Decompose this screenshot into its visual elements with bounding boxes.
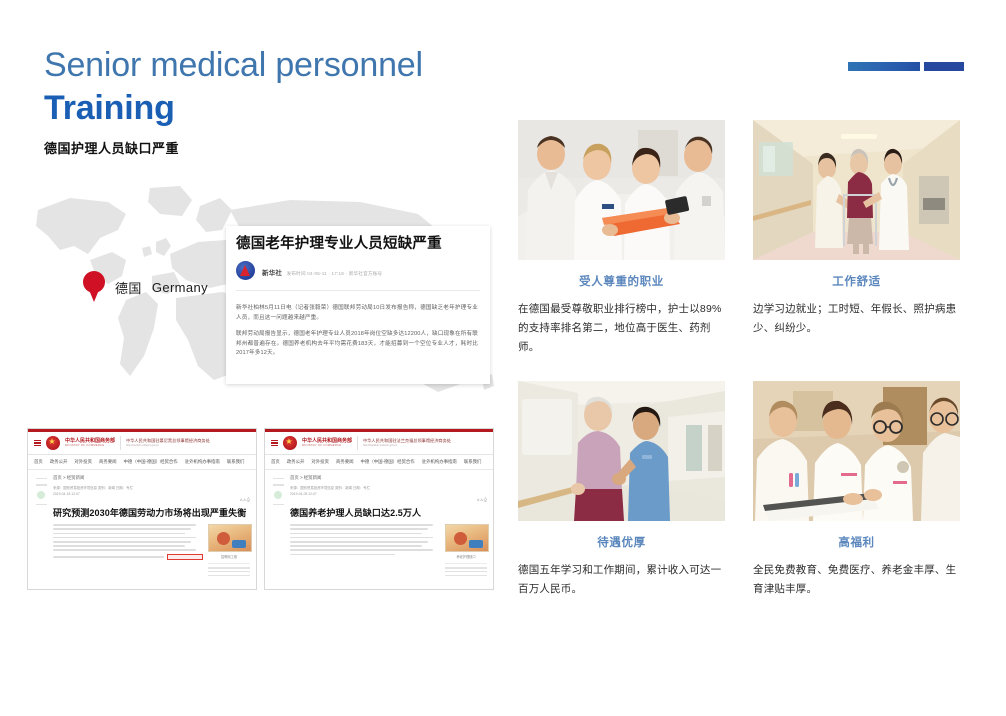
news-source-meta: 发布时间 04-05-11 · 17:18 · 新华社官方账号 <box>287 271 383 276</box>
ws2-site-header: 中华人民共和国商务部 MINISTRY OF COMMERCE 中华人民共和国驻… <box>265 432 493 455</box>
ws2-nav-item-5[interactable]: 驻外机构办事指南 <box>422 459 457 465</box>
feature-card-0: 受人尊重的职业 在德国最受尊敬职业排行榜中，护士以89%的支持率排名第二，地位高… <box>518 120 725 357</box>
ws1-nav-item-1[interactable]: 政务公开 <box>50 459 68 465</box>
ws2-article-thumbnail: 养老护理缺口 <box>445 524 487 578</box>
news-body: 新华社柏林5月11日电（记者张毅荣）德国联邦劳动局10日发布报告称，德国缺乏老年… <box>226 291 490 359</box>
ws1-thumbnail-image <box>208 524 252 552</box>
ws1-article-headline: 研究预测2030年德国劳动力市场将出现严重失衡 <box>53 508 250 519</box>
ws1-org-name-en: MINISTRY OF COMMERCE <box>65 444 115 448</box>
feature-body-1: 边学习边就业；工时短、年假长、照护病患少、纠纷少。 <box>753 300 960 338</box>
ws2-article-date: 2019-04-05 12:07 <box>290 492 487 496</box>
ws1-nav-item-4[interactable]: 中德（中国-德国）经贸合作 <box>124 459 178 465</box>
ws1-nav-item-2[interactable]: 对外投资 <box>74 459 92 465</box>
mofcom-screenshot-1[interactable]: 中华人民共和国商务部 MINISTRY OF COMMERCE 中华人民共和国驻… <box>27 428 257 590</box>
ws2-article-headline: 德国养老护理人员缺口达2.5万人 <box>290 508 487 519</box>
ws1-header-divider <box>120 436 121 450</box>
feature-body-3: 全民免费教育、免费医疗、养老金丰厚、生育津贴丰厚。 <box>753 561 960 599</box>
feature-card-2: 待遇优厚 德国五年学习和工作期间，累计收入可达一百万人民币。 <box>518 381 725 599</box>
news-paragraph-1: 新华社柏林5月11日电（记者张毅荣）德国联邦劳动局10日发布报告称，德国缺乏老年… <box>236 304 478 323</box>
news-byline: 新华社 发布时间 04-05-11 · 17:18 · 新华社官方账号 <box>226 253 490 282</box>
decor-bar-wide <box>848 62 920 71</box>
ws2-national-emblem-icon <box>283 436 297 450</box>
ws2-thumbnail-image <box>445 524 489 552</box>
page-header: Senior medical personnel Training 德国护理人员… <box>44 44 484 157</box>
ws2-side-rail <box>271 475 285 579</box>
news-headline: 德国老年护理专业人员短缺严重 <box>226 226 490 253</box>
ws1-side-rail <box>34 475 48 579</box>
xinhua-logo-icon <box>236 261 255 280</box>
news-source-name: 新华社 <box>262 270 282 277</box>
page-title-line1: Senior medical personnel <box>44 44 484 86</box>
ws2-article-meta: 来源：国别贸易投资环境信息 类别：新闻 日期：专栏 <box>290 485 487 490</box>
decorative-bars <box>848 62 964 71</box>
ws2-nav-item-2[interactable]: 对外投资 <box>311 459 329 465</box>
ws2-site-name: 中华人民共和国驻法兰克福总领事馆经济商务处 http://frankfurt.m… <box>363 438 451 448</box>
ws2-nav-item-1[interactable]: 政务公开 <box>287 459 305 465</box>
feature-card-3: 高福利 全民免费教育、免费医疗、养老金丰厚、生育津贴丰厚。 <box>753 381 960 599</box>
ws2-header-divider <box>357 436 358 450</box>
ws1-share-icon[interactable] <box>37 491 45 499</box>
photo-nurse-supporting-patient <box>518 381 725 521</box>
photo-nursing-team-reviewing <box>753 381 960 521</box>
ws1-highlighted-text <box>167 554 203 561</box>
ws1-nav-item-0[interactable]: 首页 <box>34 459 43 465</box>
photo-doctors-discussing <box>518 120 725 260</box>
ws2-nav-item-4[interactable]: 中德（中国-德国）经贸合作 <box>361 459 415 465</box>
ws1-sidebar-links <box>208 563 250 576</box>
ws1-site-url: http://munich.mofcom.gov.cn <box>126 444 210 448</box>
feature-grid: 受人尊重的职业 在德国最受尊敬职业排行榜中，护士以89%的支持率排名第二，地位高… <box>518 120 960 599</box>
ws2-font-size-tools[interactable]: A A ⎙ <box>290 497 487 502</box>
ws2-hamburger-menu-icon[interactable] <box>271 440 278 447</box>
page-subtitle-chinese: 德国护理人员缺口严重 <box>44 138 484 157</box>
ws1-org-name: 中华人民共和国商务部 MINISTRY OF COMMERCE <box>65 438 115 449</box>
ws1-thumbnail-caption: 招聘用工难 <box>208 554 250 559</box>
feature-title-0: 受人尊重的职业 <box>518 273 725 289</box>
ws2-breadcrumb: 首页 > 经贸新闻 <box>290 475 487 481</box>
ws1-article-date: 2019-04-18 12:07 <box>53 492 250 496</box>
ws1-national-emblem-icon <box>46 436 60 450</box>
map-pin-icon <box>83 271 105 303</box>
feature-body-2: 德国五年学习和工作期间，累计收入可达一百万人民币。 <box>518 561 725 599</box>
decor-bar-narrow <box>924 62 964 71</box>
mofcom-screenshot-2[interactable]: 中华人民共和国商务部 MINISTRY OF COMMERCE 中华人民共和国驻… <box>264 428 494 590</box>
ws1-article-meta: 来源：国别贸易投资环境信息 类别：新闻 日期：专栏 <box>53 485 250 490</box>
ws1-font-size-tools[interactable]: A A ⎙ <box>53 497 250 502</box>
ws2-sidebar-links <box>445 563 487 576</box>
ws2-org-name: 中华人民共和国商务部 MINISTRY OF COMMERCE <box>302 438 352 449</box>
photo-hospital-corridor-walking <box>753 120 960 260</box>
feature-title-2: 待遇优厚 <box>518 534 725 550</box>
ws1-site-name: 中华人民共和国驻慕尼黑总领事馆经济商务处 http://munich.mofco… <box>126 438 210 448</box>
feature-title-1: 工作舒适 <box>753 273 960 289</box>
page-title-line2: Training <box>44 86 484 130</box>
ws2-nav-bar[interactable]: 首页 政务公开 对外投资 商务要闻 中德（中国-德国）经贸合作 驻外机构办事指南… <box>265 455 493 470</box>
ws2-article-body <box>290 524 440 578</box>
ws2-org-name-en: MINISTRY OF COMMERCE <box>302 444 352 448</box>
ws1-nav-bar[interactable]: 首页 政务公开 对外投资 商务要闻 中德（中国-德国）经贸合作 驻外机构办事指南… <box>28 455 256 470</box>
ws2-nav-item-6[interactable]: 联系我们 <box>464 459 482 465</box>
map-pin-label-en: Germany <box>152 280 208 295</box>
ws2-nav-item-0[interactable]: 首页 <box>271 459 280 465</box>
feature-title-3: 高福利 <box>753 534 960 550</box>
map-pin-label-cn: 德国 <box>115 278 142 297</box>
ws1-nav-item-5[interactable]: 驻外机构办事指南 <box>185 459 220 465</box>
feature-card-1: 工作舒适 边学习边就业；工时短、年假长、照护病患少、纠纷少。 <box>753 120 960 357</box>
germany-map-marker[interactable]: 德国 Germany <box>83 262 243 312</box>
ws1-hamburger-menu-icon[interactable] <box>34 440 41 447</box>
ws2-thumbnail-caption: 养老护理缺口 <box>445 554 487 559</box>
news-paragraph-2: 联邦劳动局报告显示，德国老年护理专业人员2018年岗位空缺多达12200人，缺口… <box>236 330 478 359</box>
ws2-nav-item-3[interactable]: 商务要闻 <box>336 459 354 465</box>
feature-body-0: 在德国最受尊敬职业排行榜中，护士以89%的支持率排名第二，地位高于医生、药剂师。 <box>518 300 725 357</box>
ws2-share-icon[interactable] <box>274 491 282 499</box>
ws1-nav-item-3[interactable]: 商务要闻 <box>99 459 117 465</box>
ws1-article-body <box>53 524 203 578</box>
ws1-breadcrumb: 首页 > 经贸新闻 <box>53 475 250 481</box>
ws2-site-url: http://frankfurt.mofcom.gov.cn <box>363 444 451 448</box>
ws1-article-thumbnail: 招聘用工难 <box>208 524 250 578</box>
ws1-site-header: 中华人民共和国商务部 MINISTRY OF COMMERCE 中华人民共和国驻… <box>28 432 256 455</box>
news-article-card[interactable]: 德国老年护理专业人员短缺严重 新华社 发布时间 04-05-11 · 17:18… <box>226 226 490 384</box>
ws1-nav-item-6[interactable]: 联系我们 <box>227 459 245 465</box>
